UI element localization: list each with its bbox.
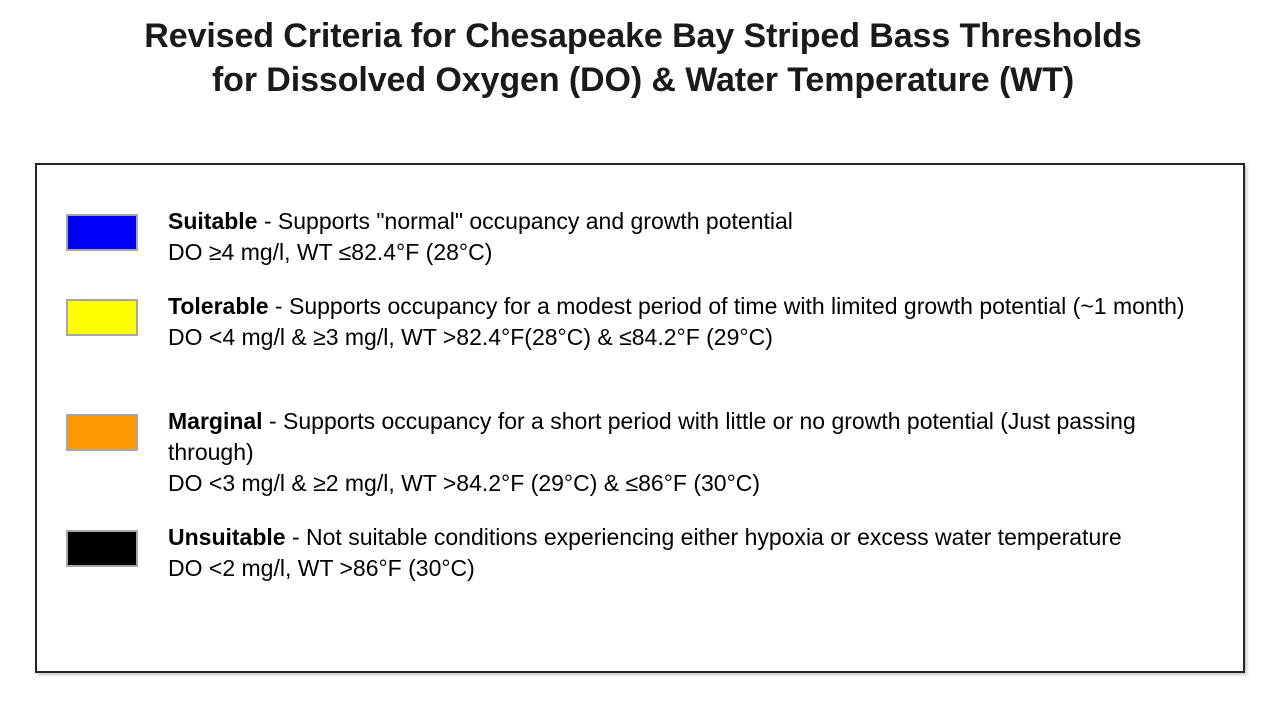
legend-entry-text: Marginal - Supports occupancy for a shor…: [168, 406, 1221, 499]
page-title-line-1: Revised Criteria for Chesapeake Bay Stri…: [0, 14, 1286, 58]
blue-swatch: [66, 214, 138, 251]
legend-entry-description: Tolerable - Supports occupancy for a mod…: [168, 291, 1221, 322]
legend-entry-label: Marginal: [168, 408, 263, 434]
black-swatch: [66, 530, 138, 567]
legend-entry-suitable: Suitable - Supports "normal" occupancy a…: [66, 206, 1221, 268]
orange-swatch: [66, 414, 138, 451]
legend-entry-text: Suitable - Supports "normal" occupancy a…: [168, 206, 1221, 268]
page-title: Revised Criteria for Chesapeake Bay Stri…: [0, 14, 1286, 102]
legend-entry-thresholds: DO <3 mg/l & ≥2 mg/l, WT >84.2°F (29°C) …: [168, 468, 1221, 499]
legend-list: Suitable - Supports "normal" occupancy a…: [37, 165, 1243, 671]
legend-entry-text: Tolerable - Supports occupancy for a mod…: [168, 291, 1221, 353]
legend-entry-marginal: Marginal - Supports occupancy for a shor…: [66, 406, 1221, 499]
legend-entry-separator: -: [257, 208, 277, 234]
legend-entry-description: Suitable - Supports "normal" occupancy a…: [168, 206, 1221, 237]
legend-entry-thresholds: DO <2 mg/l, WT >86°F (30°C): [168, 553, 1221, 584]
legend-entry-description: Unsuitable - Not suitable conditions exp…: [168, 522, 1221, 553]
legend-entry-thresholds: DO ≥4 mg/l, WT ≤82.4°F (28°C): [168, 237, 1221, 268]
legend-entry-description-text: Supports occupancy for a short period wi…: [168, 408, 1136, 465]
legend-entry-separator: -: [269, 293, 289, 319]
legend-entry-label: Unsuitable: [168, 524, 286, 550]
legend-entry-thresholds: DO <4 mg/l & ≥3 mg/l, WT >82.4°F(28°C) &…: [168, 322, 1221, 353]
legend-entry-description: Marginal - Supports occupancy for a shor…: [168, 406, 1221, 468]
legend-panel: Suitable - Supports "normal" occupancy a…: [35, 163, 1245, 673]
legend-entry-separator: -: [286, 524, 306, 550]
legend-entry-description-text: Supports "normal" occupancy and growth p…: [278, 208, 793, 234]
page-title-line-2: for Dissolved Oxygen (DO) & Water Temper…: [0, 58, 1286, 102]
legend-entry-text: Unsuitable - Not suitable conditions exp…: [168, 522, 1221, 584]
legend-entry-tolerable: Tolerable - Supports occupancy for a mod…: [66, 291, 1221, 353]
legend-entry-unsuitable: Unsuitable - Not suitable conditions exp…: [66, 522, 1221, 584]
legend-entry-separator: -: [263, 408, 283, 434]
legend-entry-description-text: Supports occupancy for a modest period o…: [289, 293, 1185, 319]
yellow-swatch: [66, 299, 138, 336]
legend-entry-description-text: Not suitable conditions experiencing eit…: [306, 524, 1122, 550]
legend-entry-label: Tolerable: [168, 293, 269, 319]
legend-entry-label: Suitable: [168, 208, 257, 234]
